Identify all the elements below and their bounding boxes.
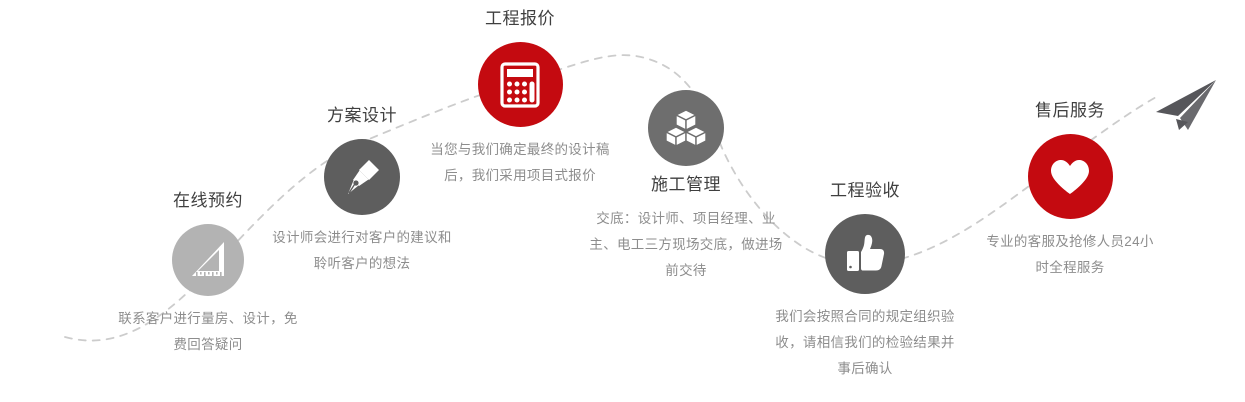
step-item-1[interactable]: 在线预约 联系客户 [118,190,298,358]
step-item-3[interactable]: 工程报价 当您与我 [430,8,610,189]
step-icon-wrap [980,134,1160,219]
step-item-2[interactable]: 方案设计 设计师会进行对客户的建议和聆听客户的想法 [272,105,452,277]
ruler-triangle-icon [172,224,244,296]
step-icon-wrap [118,224,298,296]
blocks-icon [648,90,724,166]
step-icon-wrap [272,139,452,215]
step-icon-wrap [596,90,776,166]
calculator-icon [478,42,563,127]
heart-icon [1028,134,1113,219]
step-title: 方案设计 [272,105,452,127]
step-icon-wrap [775,214,955,294]
infographic-canvas: 在线预约 联系客户 [0,0,1245,402]
thumbs-up-icon [825,214,905,294]
step-title: 售后服务 [980,100,1160,122]
paper-plane-icon [1150,78,1222,143]
step-description: 我们会按照合同的规定组织验收，请相信我们的检验结果并事后确认 [775,304,955,382]
pen-nib-icon [324,139,400,215]
step-title: 在线预约 [118,190,298,212]
step-description: 联系客户进行量房、设计，免费回答疑问 [118,306,298,358]
step-description: 交底：设计师、项目经理、业主、电工三方现场交底，做进场前交待 [586,206,786,284]
step-description: 专业的客服及抢修人员24小时全程服务 [980,229,1160,281]
step-title: 工程报价 [430,8,610,30]
step-description: 设计师会进行对客户的建议和聆听客户的想法 [272,225,452,277]
step-title: 工程验收 [775,180,955,202]
step-title: 施工管理 [596,174,776,196]
step-item-6[interactable]: 售后服务 专业的客服及抢修人员24小时全程服务 [980,100,1160,281]
step-description: 当您与我们确定最终的设计稿后，我们采用项目式报价 [430,137,610,189]
step-icon-wrap [430,42,610,127]
step-item-5[interactable]: 工程验收 我们会按照合同的规定组织验收，请相信我们的检验结果并事后确认 [775,180,955,382]
step-item-4[interactable]: 施工管理 交底：设计师、项目经理、业主、电工三方现场交底，做进场前交待 [596,90,776,284]
